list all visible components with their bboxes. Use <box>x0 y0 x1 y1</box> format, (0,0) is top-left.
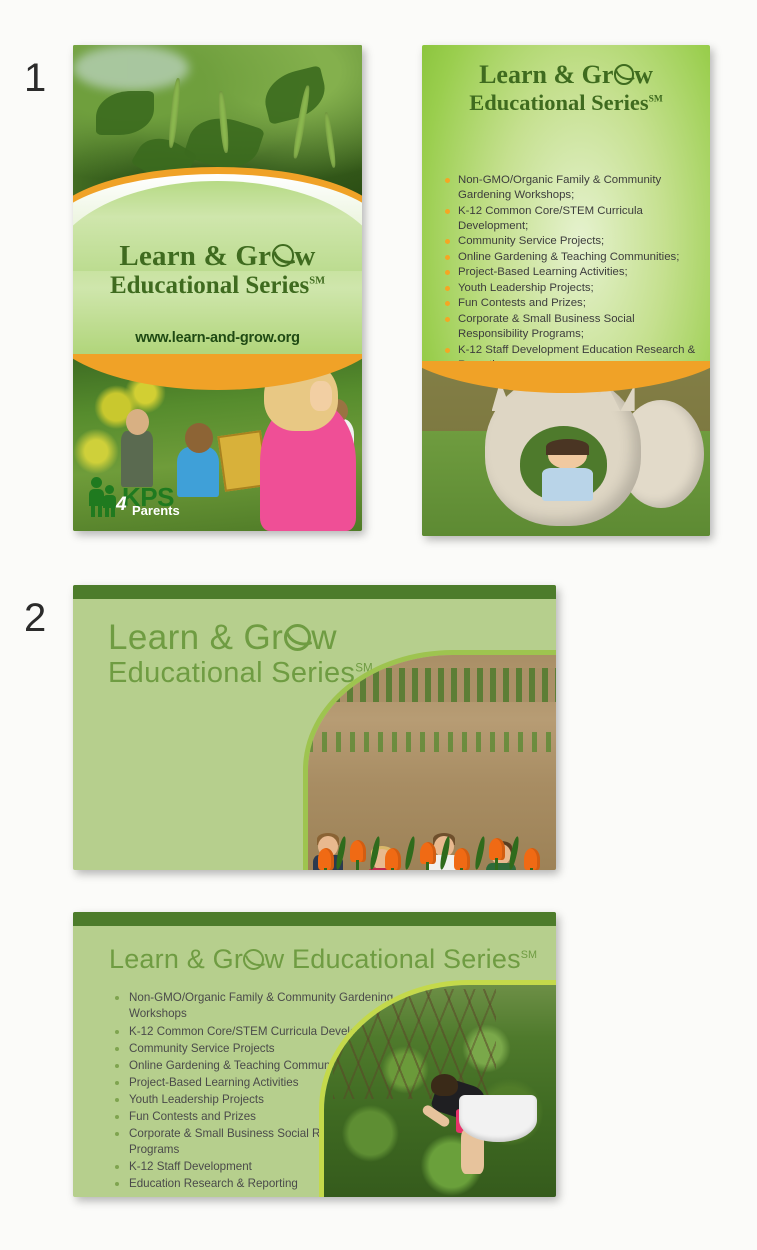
card2-title-tail: w <box>311 618 337 657</box>
list-item: Online Gardening & Teaching Communities; <box>444 250 698 265</box>
service-mark: SM <box>521 949 537 961</box>
poster2-title: Learn & Grw Educational SeriesSM <box>422 61 710 115</box>
poster1-title-tail: w <box>294 240 315 272</box>
step-number-2: 2 <box>24 598 46 638</box>
design-mockup-board: 1 2 Learn & Grw Ed <box>0 0 757 1250</box>
business-card-front[interactable]: Learn & Grw Educational SeriesSM <box>73 585 556 870</box>
list-item: Youth Leadership Projects; <box>444 281 698 296</box>
kps-parents-logo[interactable]: KPS 4Parents <box>89 477 180 517</box>
card3-title: Learn & Grw Educational SeriesSM <box>109 944 537 975</box>
list-item: K-12 Common Core/STEM Curricula Developm… <box>444 204 698 234</box>
toddler-egg-sculpture-photo <box>422 361 710 536</box>
kps-four-glyph: 4 <box>116 497 127 513</box>
card3-title-head: Learn & Gr <box>109 944 243 974</box>
children-tulips-photo <box>303 650 556 870</box>
top-green-bar <box>73 912 556 926</box>
toddler-figure <box>540 442 595 502</box>
poster-card-2[interactable]: Learn & Grw Educational SeriesSM Non-GMO… <box>422 45 710 536</box>
poster1-title-head: Learn & Gr <box>119 240 271 272</box>
harvest-basket <box>459 1095 538 1142</box>
woman-harvesting-photo <box>319 980 556 1197</box>
tulip-flowers <box>308 771 556 870</box>
child-figure-pink <box>260 399 356 531</box>
list-item: Non-GMO/Organic Family & Community Garde… <box>444 173 698 203</box>
business-card-back[interactable]: Learn & Grw Educational SeriesSM Non-GMO… <box>73 912 556 1197</box>
child-figure-blue <box>177 447 219 497</box>
leaf-circle-icon <box>272 244 295 267</box>
card3-title-tail: w Educational Series <box>265 944 521 974</box>
poster-card-1[interactable]: Learn & Grw Educational SeriesSM www.lea… <box>73 45 362 531</box>
list-item: Fun Contests and Prizes; <box>444 296 698 311</box>
leaf-circle-icon <box>243 949 264 970</box>
step-number-1: 1 <box>24 58 46 98</box>
poster2-title-head: Learn & Gr <box>479 60 613 89</box>
poster2-title-tail: w <box>634 60 653 89</box>
top-green-bar <box>73 585 556 599</box>
service-mark: SM <box>649 94 663 104</box>
poster1-subtitle: Educational Series <box>110 272 309 299</box>
poster2-program-list: Non-GMO/Organic Family & Community Garde… <box>444 173 698 373</box>
poster1-title: Learn & Grw Educational SeriesSM <box>73 241 362 300</box>
children-in-meadow-photo: KPS 4Parents <box>73 354 362 531</box>
leaf-circle-icon <box>284 624 311 651</box>
leaf-circle-icon <box>614 64 634 84</box>
service-mark: SM <box>309 276 325 287</box>
card2-title-head: Learn & Gr <box>108 618 283 657</box>
list-item: Community Service Projects; <box>444 234 698 249</box>
poster2-subtitle: Educational Series <box>469 90 648 115</box>
kps-parents-text: 4Parents <box>122 506 180 517</box>
list-item: Corporate & Small Business Social Respon… <box>444 312 698 342</box>
poster1-website[interactable]: www.learn-and-grow.org <box>73 330 362 346</box>
list-item: Project-Based Learning Activities; <box>444 265 698 280</box>
